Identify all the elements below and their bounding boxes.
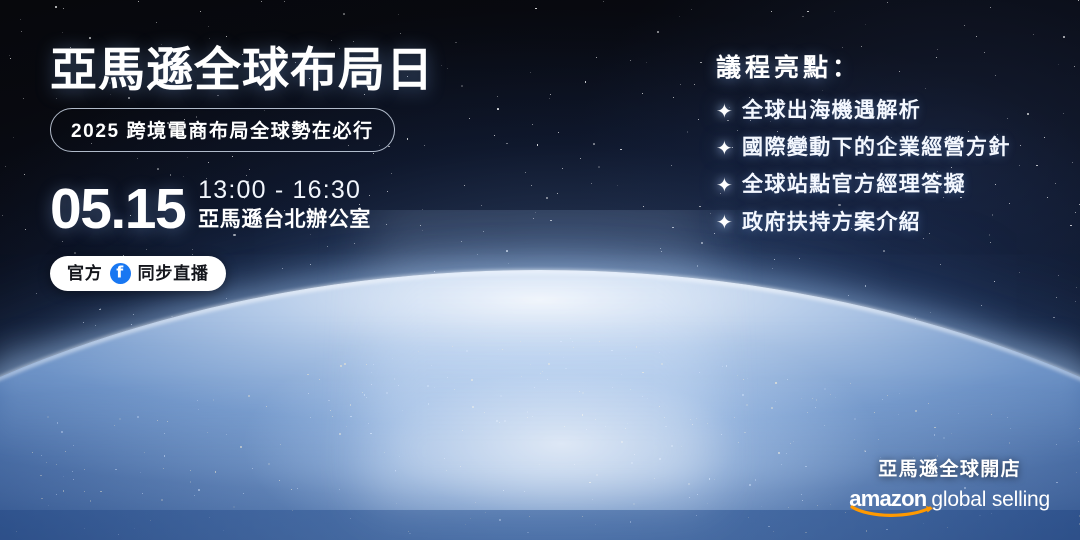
sparkle-icon: ✦	[716, 175, 742, 195]
list-item: ✦ 全球出海機遇解析	[716, 98, 1056, 123]
sparkle-icon: ✦	[716, 212, 742, 232]
agenda-item-label: 政府扶持方案介紹	[742, 210, 921, 235]
agenda-item-label: 全球出海機遇解析	[742, 98, 921, 123]
amazon-smile-icon	[850, 505, 936, 518]
subtitle-pill: 2025 跨境電商布局全球勢在必行	[50, 108, 395, 152]
agenda-heading: 議程亮點：	[716, 48, 1056, 84]
agenda-block: 議程亮點： ✦ 全球出海機遇解析 ✦ 國際變動下的企業經營方針 ✦ 全球站點官方…	[716, 48, 1056, 247]
date-meta: 13:00 - 16:30 亞馬遜台北辦公室	[198, 176, 371, 236]
agenda-item-label: 國際變動下的企業經營方針	[742, 135, 1011, 160]
sparkle-icon: ✦	[716, 101, 742, 121]
live-badge-suffix: 同步直播	[138, 265, 209, 282]
logo-wordmark: amazonglobal selling	[849, 486, 1050, 512]
event-time: 13:00 - 16:30	[198, 176, 371, 204]
live-stream-badge[interactable]: 官方 同步直播	[50, 256, 226, 291]
list-item: ✦ 政府扶持方案介紹	[716, 210, 1056, 235]
facebook-icon	[110, 263, 131, 284]
sparkle-icon: ✦	[716, 138, 742, 158]
page-title: 亞馬遜全球布局日	[50, 44, 520, 97]
event-venue: 亞馬遜台北辦公室	[198, 207, 371, 233]
amazon-global-selling-logo: 亞馬遜全球開店 amazonglobal selling	[849, 459, 1050, 512]
list-item: ✦ 全球站點官方經理答擬	[716, 172, 1056, 197]
event-info-block: 亞馬遜全球布局日 2025 跨境電商布局全球勢在必行 05.15 13:00 -…	[50, 44, 520, 291]
agenda-list: ✦ 全球出海機遇解析 ✦ 國際變動下的企業經營方針 ✦ 全球站點官方經理答擬 ✦…	[716, 98, 1056, 235]
date-row: 05.15 13:00 - 16:30 亞馬遜台北辦公室	[50, 176, 520, 236]
live-badge-prefix: 官方	[67, 265, 103, 282]
event-date: 05.15	[50, 183, 185, 235]
event-banner: 亞馬遜全球布局日 2025 跨境電商布局全球勢在必行 05.15 13:00 -…	[0, 0, 1080, 540]
logo-tagline: global selling	[931, 488, 1050, 511]
agenda-item-label: 全球站點官方經理答擬	[742, 172, 966, 197]
logo-chinese-label: 亞馬遜全球開店	[849, 459, 1050, 482]
list-item: ✦ 國際變動下的企業經營方針	[716, 135, 1056, 160]
